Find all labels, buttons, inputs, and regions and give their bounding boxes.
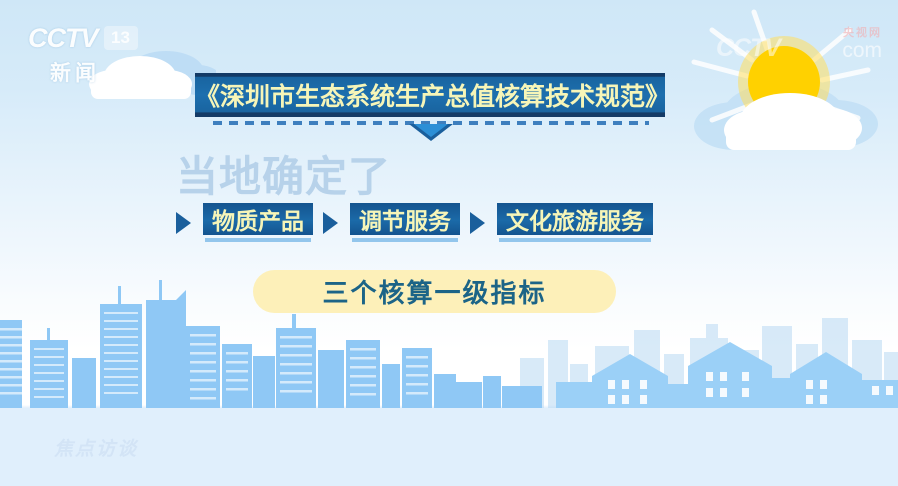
page-title: 《深圳市生态系统生产总值核算技术规范》 [195, 77, 665, 113]
tag-underline-2 [352, 238, 458, 242]
tag-label-2: 调节服务 [350, 203, 460, 235]
title-banner: 《深圳市生态系统生产总值核算技术规范》 [195, 73, 665, 117]
tag-underline-3 [499, 238, 651, 242]
sun-and-cloud [672, 8, 898, 158]
summary-pill-label: 三个核算一级指标 [322, 273, 546, 310]
channel-number-badge: 13 [104, 26, 138, 50]
ghost-headline: 当地确定了 [176, 143, 391, 204]
tag-underline-1 [205, 238, 311, 242]
cctv-logo-row-top: CCTV 13 [28, 22, 188, 54]
tag-label-1: 物质产品 [203, 203, 313, 235]
channel-name-cn: 新闻 [28, 57, 188, 87]
ground-band [0, 408, 898, 486]
arrow-right-icon-2 [323, 212, 338, 234]
houses [556, 342, 898, 408]
summary-pill: 三个核算一级指标 [253, 270, 616, 313]
tag-item-3: 文化旅游服务 [497, 203, 653, 242]
tag-row: 物质产品 调节服务 文化旅游服务 [176, 203, 653, 242]
tag-item-1: 物质产品 [203, 203, 313, 242]
tag-item-2: 调节服务 [350, 203, 460, 242]
cctv13-logo: CCTV 13 新闻 [28, 22, 188, 86]
chevron-down-inner-icon [414, 124, 448, 137]
broadcast-frame: CCTV 13 新闻 CCTV 央视网 com 《深圳市生态系统生产总值核算技术… [0, 0, 898, 486]
tag-label-3: 文化旅游服务 [497, 203, 653, 235]
cctv-wordmark: CCTV [28, 23, 98, 54]
arrow-right-icon-3 [470, 212, 485, 234]
arrow-right-icon-1 [176, 212, 191, 234]
